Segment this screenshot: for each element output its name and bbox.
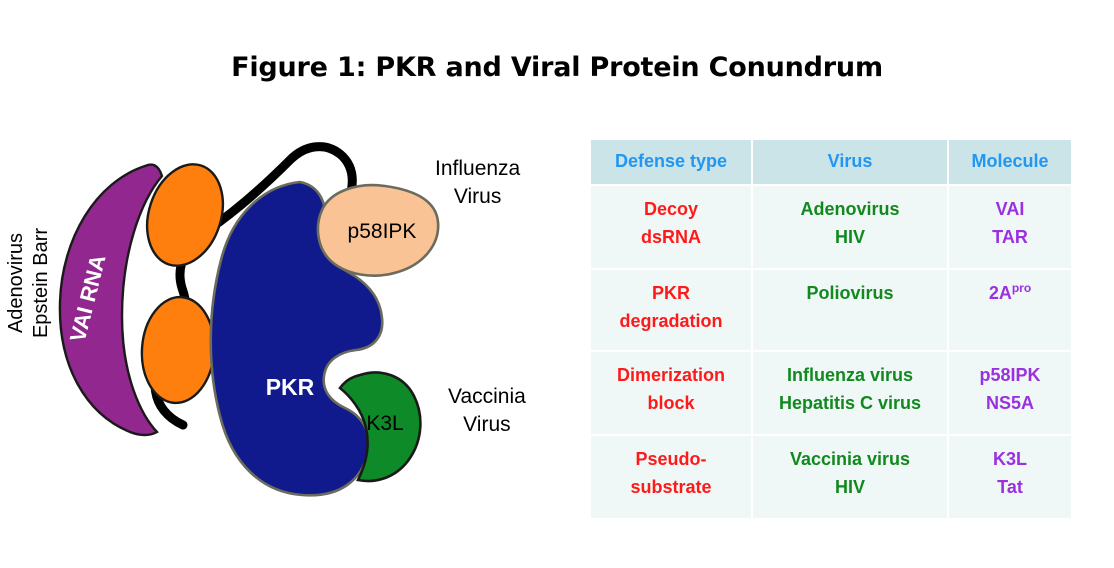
- page-title: Figure 1: PKR and Viral Protein Conundru…: [0, 52, 1114, 83]
- cell-line: Dimerization: [595, 362, 747, 390]
- cell-virus: Poliovirus: [753, 270, 947, 350]
- cell-line: 2Apro: [953, 280, 1067, 308]
- vaccinia-label-line2: Virus: [463, 413, 510, 436]
- cell-line: Vaccinia virus: [757, 446, 943, 474]
- influenza-label-line2: Virus: [454, 185, 501, 208]
- cell-virus: Adenovirus HIV: [753, 186, 947, 268]
- cell-molecule: p58IPK NS5A: [949, 352, 1071, 434]
- p58ipk-label: p58IPK: [348, 220, 417, 243]
- adenovirus-label-line1: Adenovirus: [5, 233, 27, 333]
- cell-defense-type: PKR degradation: [591, 270, 751, 350]
- cell-line: Adenovirus: [757, 196, 943, 224]
- cell-virus: Vaccinia virus HIV: [753, 436, 947, 518]
- cell-line: HIV: [757, 474, 943, 502]
- cell-line: TAR: [953, 224, 1067, 252]
- cell-defense-type: Decoy dsRNA: [591, 186, 751, 268]
- cell-line: VAI: [953, 196, 1067, 224]
- cell-line: Tat: [953, 474, 1067, 502]
- table-row: Decoy dsRNA Adenovirus HIV VAI TAR: [591, 186, 1071, 268]
- cell-line: Poliovirus: [757, 280, 943, 308]
- cell-molecule: 2Apro: [949, 270, 1071, 350]
- pkr-diagram: VAI RNA PKR p58IPK K3L Adenovirus Epstei…: [0, 120, 580, 550]
- epstein-barr-label-line2: Epstein Barr: [30, 228, 52, 338]
- table-row: PKR degradation Poliovirus 2Apro: [591, 270, 1071, 350]
- vaccinia-label-line1: Vaccinia: [448, 385, 526, 408]
- cell-line: Pseudo-: [595, 446, 747, 474]
- viral-defense-table: Defense type Virus Molecule Decoy dsRNA …: [589, 138, 1073, 520]
- molecule-superscript: pro: [1012, 281, 1031, 295]
- table-row: Dimerization block Influenza virus Hepat…: [591, 352, 1071, 434]
- k3l-label: K3L: [366, 412, 403, 435]
- adenovirus-epstein-barr-label: Adenovirus Epstein Barr: [4, 198, 54, 368]
- cell-molecule: VAI TAR: [949, 186, 1071, 268]
- molecule-base: 2A: [989, 283, 1012, 303]
- cell-defense-type: Dimerization block: [591, 352, 751, 434]
- table-header-row: Defense type Virus Molecule: [591, 140, 1071, 184]
- column-header-defense-type: Defense type: [591, 140, 751, 184]
- cell-line: K3L: [953, 446, 1067, 474]
- cell-molecule: K3L Tat: [949, 436, 1071, 518]
- cell-line: HIV: [757, 224, 943, 252]
- cell-line: substrate: [595, 474, 747, 502]
- vaccinia-virus-label: Vaccinia Virus: [448, 383, 526, 440]
- table-row: Pseudo- substrate Vaccinia virus HIV K3L…: [591, 436, 1071, 518]
- cell-line: NS5A: [953, 390, 1067, 418]
- column-header-virus: Virus: [753, 140, 947, 184]
- influenza-label-line1: Influenza: [435, 157, 520, 180]
- cell-line: p58IPK: [953, 362, 1067, 390]
- cell-line: degradation: [595, 308, 747, 336]
- cell-line: Influenza virus: [757, 362, 943, 390]
- influenza-virus-label: Influenza Virus: [435, 155, 520, 212]
- pkr-label: PKR: [266, 374, 315, 400]
- cell-virus: Influenza virus Hepatitis C virus: [753, 352, 947, 434]
- cell-defense-type: Pseudo- substrate: [591, 436, 751, 518]
- cell-line: block: [595, 390, 747, 418]
- cell-line: Decoy: [595, 196, 747, 224]
- cell-line: PKR: [595, 280, 747, 308]
- column-header-molecule: Molecule: [949, 140, 1071, 184]
- cell-line: dsRNA: [595, 224, 747, 252]
- cell-line: Hepatitis C virus: [757, 390, 943, 418]
- dsrbd-domain-2-shape: [138, 295, 217, 406]
